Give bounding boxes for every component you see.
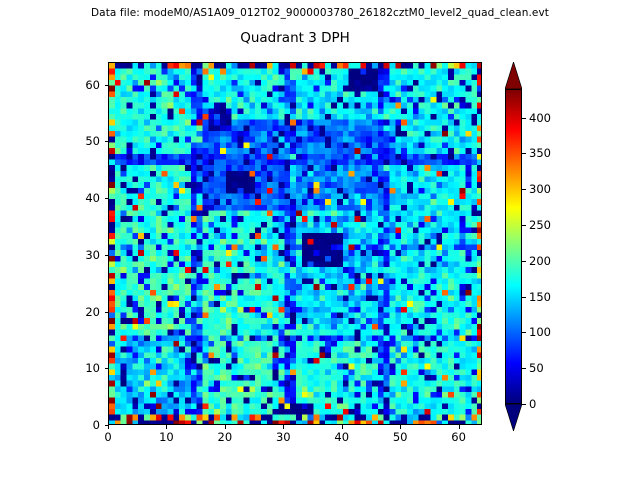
matplotlib-figure: Data file: modeM0/AS1A09_012T02_90000037… xyxy=(0,0,640,480)
x-tick-mark xyxy=(225,425,226,429)
x-tick-mark xyxy=(459,425,460,429)
y-tick-label: 60 xyxy=(85,78,100,92)
x-tick-label: 0 xyxy=(104,430,111,444)
colorbar-tick-label: 300 xyxy=(529,182,551,196)
y-tick-mark xyxy=(105,85,109,86)
colorbar-tick-mark xyxy=(522,189,526,190)
data-file-suptitle: Data file: modeM0/AS1A09_012T02_90000037… xyxy=(0,7,640,19)
colorbar[interactable] xyxy=(505,62,522,425)
y-tick-mark xyxy=(105,141,109,142)
colorbar-tick-label: 50 xyxy=(529,361,544,375)
x-tick-label: 50 xyxy=(393,430,408,444)
y-tick-label: 50 xyxy=(85,134,100,148)
colorbar-tick-label: 350 xyxy=(529,146,551,160)
x-tick-mark xyxy=(342,425,343,429)
colorbar-tick-label: 100 xyxy=(529,325,551,339)
colorbar-tick-mark xyxy=(522,153,526,154)
y-tick-label: 0 xyxy=(93,418,100,432)
x-tick-mark xyxy=(400,425,401,429)
x-tick-mark xyxy=(283,425,284,429)
colorbar-tick-mark xyxy=(522,261,526,262)
y-tick-label: 20 xyxy=(85,305,100,319)
x-tick-label: 10 xyxy=(159,430,174,444)
y-tick-mark xyxy=(105,368,109,369)
colorbar-tick-mark xyxy=(522,332,526,333)
x-tick-mark xyxy=(166,425,167,429)
x-tick-mark xyxy=(108,425,109,429)
x-tick-label: 20 xyxy=(218,430,233,444)
y-tick-label: 40 xyxy=(85,191,100,205)
y-tick-label: 10 xyxy=(85,361,100,375)
dph-heatmap-image[interactable] xyxy=(109,63,482,425)
x-tick-label: 30 xyxy=(276,430,291,444)
y-tick-mark xyxy=(105,312,109,313)
colorbar-tick-mark xyxy=(522,297,526,298)
x-tick-label: 60 xyxy=(451,430,466,444)
colorbar-tick-label: 250 xyxy=(529,218,551,232)
colorbar-tick-label: 400 xyxy=(529,111,551,125)
colorbar-gradient xyxy=(505,89,522,404)
colorbar-tick-mark xyxy=(522,225,526,226)
x-tick-label: 40 xyxy=(334,430,349,444)
y-tick-mark xyxy=(105,255,109,256)
colorbar-tick-label: 0 xyxy=(529,397,536,411)
y-tick-label: 30 xyxy=(85,248,100,262)
colorbar-tick-label: 150 xyxy=(529,290,551,304)
colorbar-extend-max-arrow xyxy=(505,62,522,89)
y-tick-mark xyxy=(105,198,109,199)
colorbar-tick-mark xyxy=(522,368,526,369)
plot-title: Quadrant 3 DPH xyxy=(108,30,482,46)
colorbar-extend-min-arrow xyxy=(505,404,522,431)
y-tick-mark xyxy=(105,425,109,426)
colorbar-tick-mark xyxy=(522,118,526,119)
colorbar-tick-label: 200 xyxy=(529,254,551,268)
colorbar-tick-mark xyxy=(522,404,526,405)
heatmap-axes[interactable] xyxy=(108,62,482,425)
